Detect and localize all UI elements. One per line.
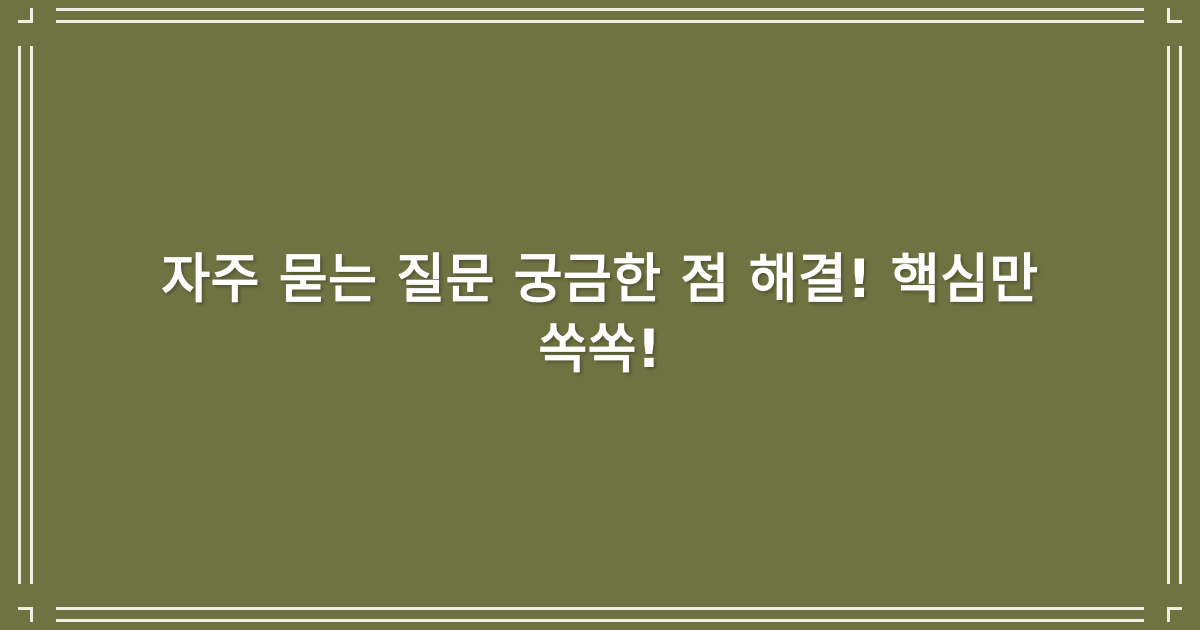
title-container: 자주 묻는 질문 궁금한 점 해결! 핵심만 쏙쏙! <box>0 0 1200 630</box>
promo-card: 자주 묻는 질문 궁금한 점 해결! 핵심만 쏙쏙! <box>0 0 1200 630</box>
page-title: 자주 묻는 질문 궁금한 점 해결! 핵심만 쏙쏙! <box>150 245 1050 385</box>
